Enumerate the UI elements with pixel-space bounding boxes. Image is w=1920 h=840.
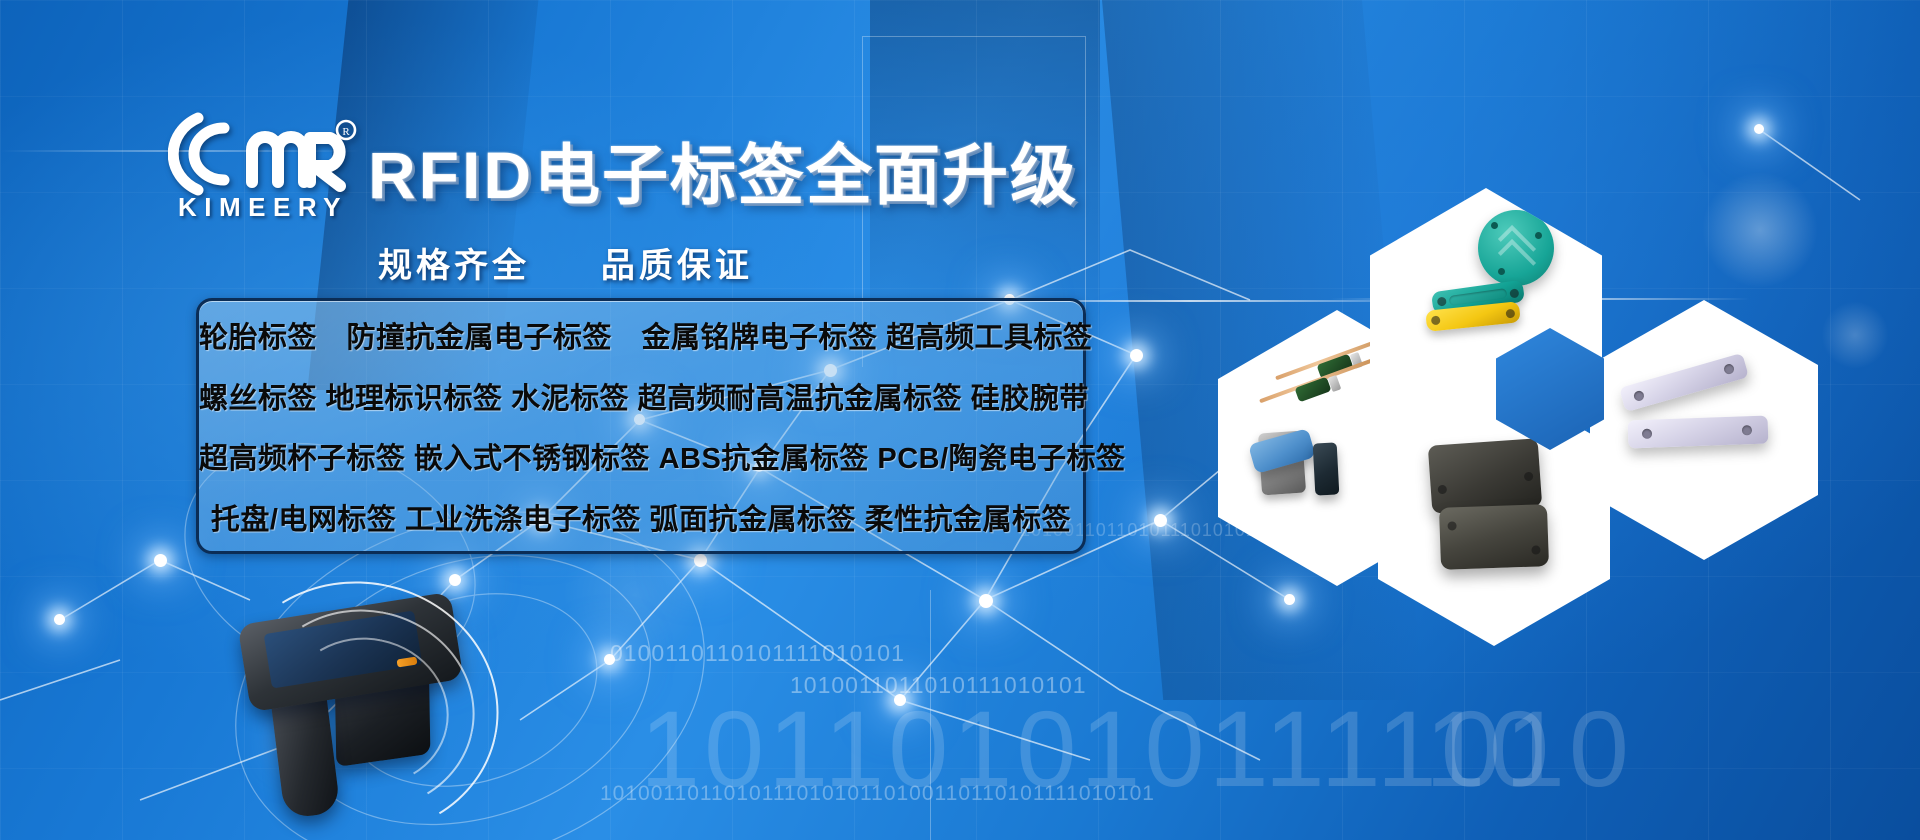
network-node (979, 594, 993, 608)
list-item: 轮胎标签 防撞抗金属电子标签 金属铭牌电子标签 超高频工具标签 (199, 314, 1083, 356)
network-node (449, 574, 461, 586)
pale-rugged-bar-tag-lower (1628, 416, 1769, 449)
svg-text:R: R (342, 126, 350, 138)
handheld-rfid-uhf-reader[interactable] (185, 598, 505, 840)
page-subtitle: 规格齐全 品质保证 (378, 238, 753, 287)
hex-pale-rugged-tags[interactable] (1590, 300, 1818, 560)
network-node (604, 654, 615, 665)
dark-stick-tag (1313, 442, 1340, 495)
rfid-promo-banner: 0100110110101111010101 10100110110101110… (0, 0, 1920, 840)
network-node (1754, 124, 1764, 134)
page-title-chinese: 电子标签全面升级 (534, 138, 1078, 212)
glass-tube-core-2 (1294, 377, 1331, 403)
brand-logo[interactable]: R KIMEERY (168, 108, 358, 220)
black-rect-anti-metal-tag-back (1439, 504, 1549, 570)
kimeery-rfid-wave-logo-icon: R (168, 108, 358, 200)
bg-frame-bottom (930, 590, 1391, 840)
list-item: 超高频杯子标签 嵌入式不锈钢标签 ABS抗金属标签 PCB/陶瓷电子标签 (199, 435, 1083, 477)
brand-name: KIMEERY (170, 192, 356, 223)
binary-line-2: 1010011011010111010101 (790, 672, 1087, 699)
black-rect-anti-metal-tag-front (1428, 438, 1542, 514)
network-node (54, 614, 65, 625)
product-category-list: 轮胎标签 防撞抗金属电子标签 金属铭牌电子标签 超高频工具标签 螺丝标签 地理标… (196, 298, 1086, 554)
bg-glow-1 (1700, 170, 1820, 290)
teal-round-disc-tag (1478, 210, 1554, 286)
network-node (694, 554, 707, 567)
list-item: 托盘/电网标签 工业洗涤电子标签 弧面抗金属标签 柔性抗金属标签 (199, 496, 1083, 538)
bg-glow-2 (1820, 300, 1890, 370)
page-title: RFID电子标签全面升级 (368, 122, 1078, 218)
list-item: 螺丝标签 地理标识标签 水泥标签 超高频耐高温抗金属标签 硅胶腕带 (199, 375, 1083, 417)
binary-large-2: 10 (1425, 686, 1553, 811)
binary-large-1: 1011010101111010 (640, 686, 1633, 811)
page-subtitle-left: 规格齐全 (378, 247, 530, 285)
binary-line-3: 1010011011010111010101101001101101011110… (600, 782, 1155, 806)
binary-line-1: 0100110110101111010101 (610, 640, 905, 667)
page-title-latin: RFID (368, 138, 534, 212)
page-subtitle-right: 品质保证 (601, 247, 753, 285)
network-node (1284, 594, 1295, 605)
network-node (894, 694, 906, 706)
network-node (1154, 514, 1167, 527)
network-node (154, 554, 167, 567)
pale-rugged-bar-tag-upper (1619, 353, 1749, 412)
network-node (1130, 349, 1143, 362)
